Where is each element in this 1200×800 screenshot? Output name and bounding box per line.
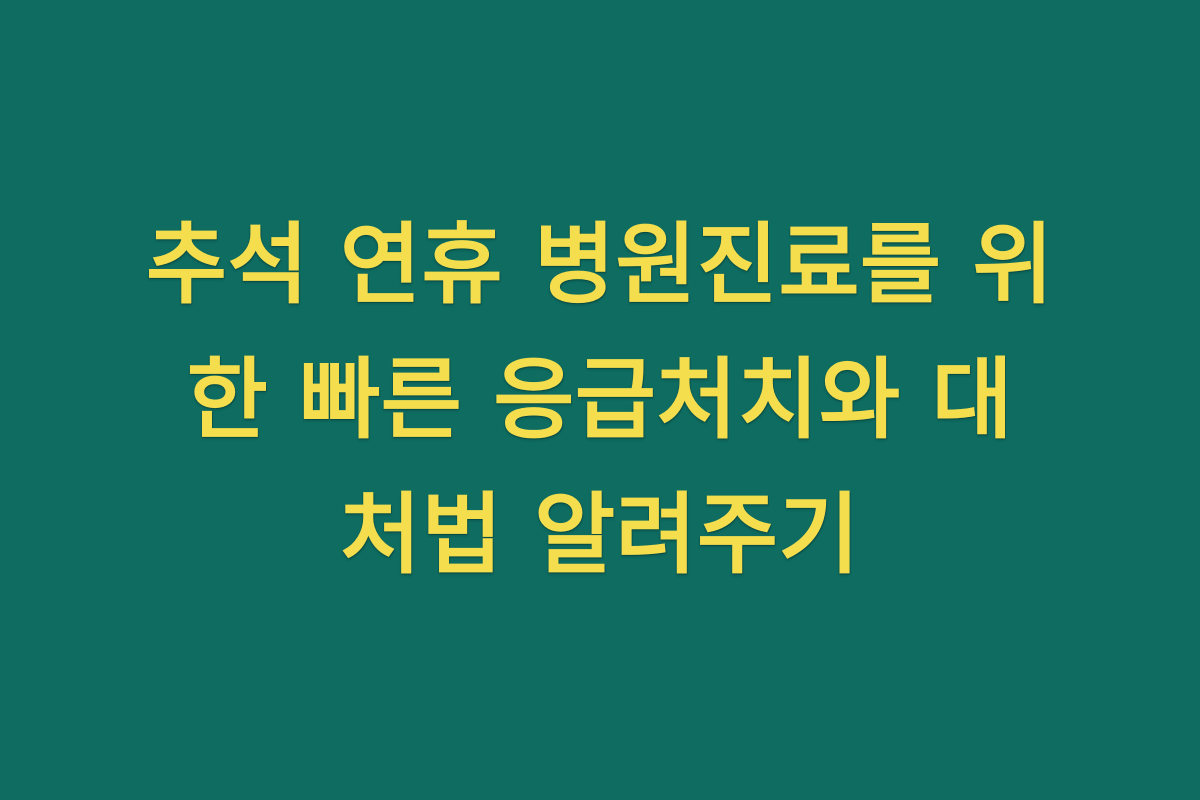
banner-canvas: 추석 연휴 병원진료를 위 한 빠른 응급처치와 대 처법 알려주기 <box>0 0 1200 800</box>
headline-line-1: 추석 연휴 병원진료를 위 <box>146 197 1054 332</box>
headline-line-2: 한 빠른 응급처치와 대 <box>187 332 1014 467</box>
headline-text-block: 추석 연휴 병원진료를 위 한 빠른 응급처치와 대 처법 알려주기 <box>70 197 1130 602</box>
headline-line-3: 처법 알려주기 <box>340 467 860 602</box>
